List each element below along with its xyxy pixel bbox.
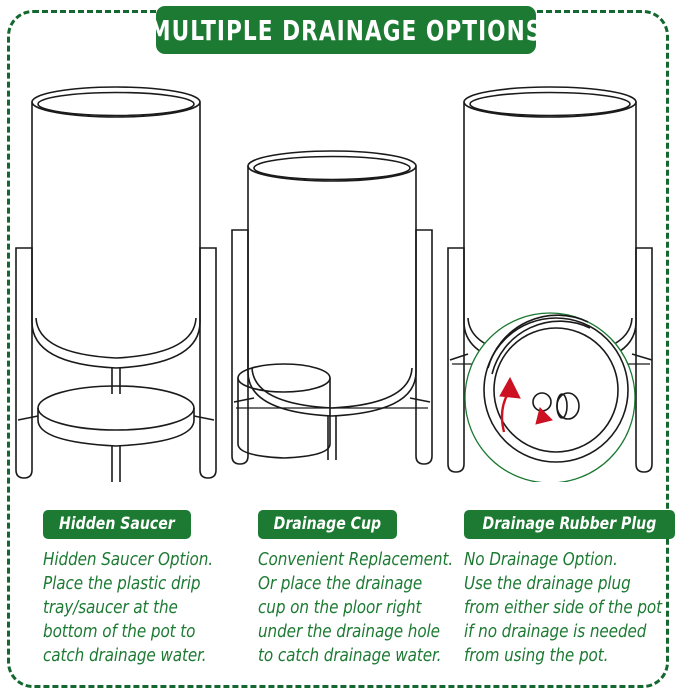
badge-drainage-cup: Drainage Cup — [258, 510, 397, 539]
badge-label: Drainage Rubber Plug — [483, 514, 657, 534]
text-line: Hidden Saucer Option. — [43, 548, 231, 572]
column-drainage-cup: Drainage Cup Convenient Replacement. Or … — [258, 510, 458, 668]
text-line: catch drainage water. — [43, 644, 231, 668]
text-line: Or place the drainage — [258, 572, 446, 596]
illustration-rubber-plug — [438, 72, 668, 482]
illustration-hidden-saucer — [6, 72, 226, 482]
badge-hidden-saucer: Hidden Saucer — [43, 510, 191, 539]
illustration-drainage-cup — [222, 72, 442, 482]
text-line: Place the plastic drip — [43, 572, 231, 596]
badge-label: Drainage Cup — [274, 514, 381, 534]
text-line: bottom of the pot to — [43, 620, 231, 644]
text-line: if no drainage is needed — [464, 620, 657, 644]
text-line: Use the drainage plug — [464, 572, 657, 596]
title-banner: MULTIPLE DRAINAGE OPTIONS — [156, 6, 536, 54]
text-line: from using the pot. — [464, 644, 657, 668]
page-title: MULTIPLE DRAINAGE OPTIONS — [149, 14, 542, 47]
badge-label: Hidden Saucer — [59, 514, 175, 534]
text-line: to catch drainage water. — [258, 644, 446, 668]
description-drainage-cup: Convenient Replacement. Or place the dra… — [258, 548, 458, 668]
description-hidden-saucer: Hidden Saucer Option. Place the plastic … — [43, 548, 243, 668]
description-rubber-plug: No Drainage Option. Use the drainage plu… — [464, 548, 669, 668]
text-line: Convenient Replacement. — [258, 548, 446, 572]
text-line: tray/saucer at the — [43, 596, 231, 620]
text-line: under the drainage hole — [258, 620, 446, 644]
text-line: from either side of the pot — [464, 596, 657, 620]
text-line: cup on the ploor right — [258, 596, 446, 620]
column-rubber-plug: Drainage Rubber Plug No Drainage Option.… — [464, 510, 669, 668]
column-hidden-saucer: Hidden Saucer Hidden Saucer Option. Plac… — [43, 510, 243, 668]
text-line: No Drainage Option. — [464, 548, 657, 572]
badge-rubber-plug: Drainage Rubber Plug — [464, 510, 675, 539]
